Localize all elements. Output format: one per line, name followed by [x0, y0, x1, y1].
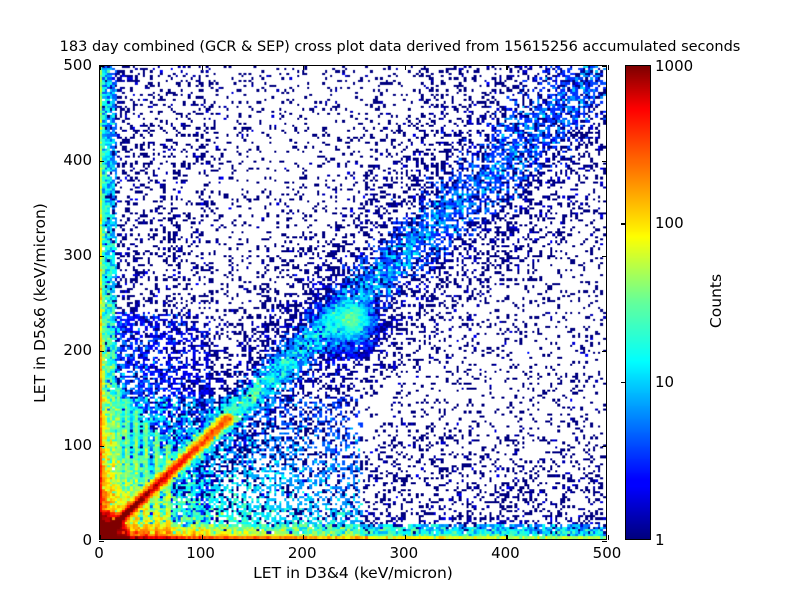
- y-axis-tick: [99, 351, 104, 352]
- x-axis-tick-label: 200: [288, 544, 317, 562]
- y-axis-tick: [99, 446, 104, 447]
- x-axis-tick-top: [405, 65, 406, 70]
- y-axis-tick: [99, 161, 104, 162]
- y-axis-tick-right: [602, 256, 607, 257]
- x-axis-tick-label: 400: [491, 544, 520, 562]
- title-line-1: 183 day combined (GCR & SEP) cross plot …: [0, 39, 800, 56]
- colorbar-tick-label: 1000: [655, 57, 693, 75]
- x-axis-label: LET in D3&4 (keV/micron): [99, 564, 607, 582]
- y-axis-tick-right: [602, 66, 607, 67]
- x-axis-tick-label: 0: [94, 544, 104, 562]
- y-axis-tick: [99, 256, 104, 257]
- y-axis-label: LET in D5&6 (keV/micron): [31, 153, 49, 453]
- colorbar: [625, 65, 651, 540]
- y-axis-tick-right: [602, 351, 607, 352]
- y-axis-tick: [99, 541, 104, 542]
- x-axis-tick-top: [202, 65, 203, 70]
- plot-axes: [99, 65, 607, 540]
- x-axis-tick: [100, 535, 101, 540]
- colorbar-title: Counts: [707, 201, 725, 401]
- y-axis-tick-label: 300: [47, 246, 92, 264]
- y-axis-tick: [99, 66, 104, 67]
- x-axis-tick: [303, 535, 304, 540]
- y-axis-tick-right: [602, 446, 607, 447]
- y-axis-tick-label: 400: [47, 151, 92, 169]
- x-axis-tick: [405, 535, 406, 540]
- x-axis-tick-label: 100: [186, 544, 215, 562]
- x-axis-tick: [608, 535, 609, 540]
- colorbar-tick-label: 10: [655, 373, 674, 391]
- x-axis-tick-label: 300: [389, 544, 418, 562]
- x-axis-tick: [506, 535, 507, 540]
- colorbar-tick-label: 1: [655, 531, 665, 549]
- colorbar-tick: [621, 382, 626, 383]
- figure-canvas: 183 day combined (GCR & SEP) cross plot …: [0, 0, 800, 600]
- y-axis-tick-label: 100: [47, 436, 92, 454]
- y-axis-tick-right: [602, 541, 607, 542]
- x-axis-tick-top: [303, 65, 304, 70]
- y-axis-tick-label: 200: [47, 341, 92, 359]
- density-scatter-plot: [100, 66, 606, 539]
- x-axis-tick-label: 500: [593, 544, 622, 562]
- x-axis-tick: [202, 535, 203, 540]
- x-axis-tick-top: [608, 65, 609, 70]
- colorbar-tick-label: 100: [655, 214, 684, 232]
- colorbar-gradient: [625, 65, 651, 540]
- x-axis-tick-top: [506, 65, 507, 70]
- colorbar-tick: [621, 223, 626, 224]
- y-axis-tick-label: 500: [47, 56, 92, 74]
- y-axis-tick-right: [602, 161, 607, 162]
- y-axis-tick-label: 0: [47, 531, 92, 549]
